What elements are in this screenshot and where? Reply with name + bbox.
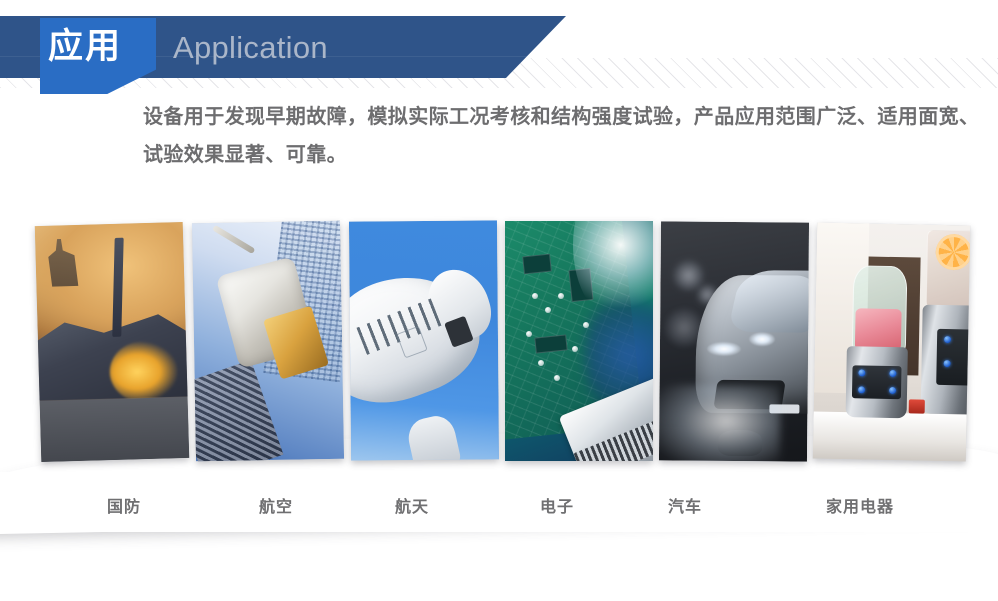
showcase-panel-row xyxy=(0,196,998,466)
application-showcase xyxy=(0,196,998,506)
pcb-circuit-board-image xyxy=(505,221,653,461)
showcase-panel-electronics[interactable] xyxy=(505,221,653,461)
silver-car-headlights-image xyxy=(659,221,809,461)
satellite-in-orbit-image xyxy=(192,221,344,462)
caption-automotive: 汽车 xyxy=(615,496,755,520)
caption-home-appliance: 家用电器 xyxy=(790,496,930,520)
application-section: 应用 Application 设备用于发现早期故障，模拟实际工况考核和结构强度试… xyxy=(0,0,998,601)
intro-paragraph: 设备用于发现早期故障，模拟实际工况考核和结构强度试验，产品应用范围广泛、适用面宽… xyxy=(143,98,981,174)
showcase-panel-aviation[interactable] xyxy=(192,221,344,462)
showcase-caption-row: 国防 航空 航天 电子 汽车 家用电器 xyxy=(0,496,998,536)
caption-electronics: 电子 xyxy=(487,496,627,520)
kitchen-blenders-image xyxy=(813,223,971,462)
header-english-title: Application xyxy=(173,29,328,67)
showcase-panel-aerospace[interactable] xyxy=(349,220,499,460)
caption-aerospace: 航天 xyxy=(342,496,482,520)
showcase-panel-home-appliance[interactable] xyxy=(813,223,971,462)
header-badge-label: 应用 xyxy=(48,22,148,72)
caption-aviation: 航空 xyxy=(206,496,346,520)
showcase-panel-defense[interactable] xyxy=(35,222,190,462)
airliner-nose-image xyxy=(349,220,499,460)
section-header: 应用 Application xyxy=(0,0,998,100)
caption-defense: 国防 xyxy=(54,496,194,520)
showcase-panel-automotive[interactable] xyxy=(659,221,809,461)
fighter-jet-on-carrier-image xyxy=(35,222,190,462)
